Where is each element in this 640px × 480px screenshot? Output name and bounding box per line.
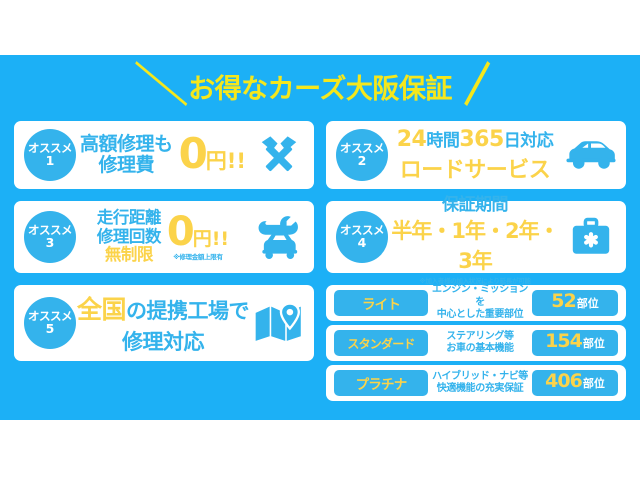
card-4-line1: 保証期間 <box>388 190 562 215</box>
crossed-hammers-icon <box>250 132 308 178</box>
plan-count-number: 406 <box>545 370 582 392</box>
feature-card-1: オススメ 1 高額修理も 修理費 0 円!! <box>14 121 314 189</box>
plan-row-standard[interactable]: スタンダード ステアリング等 お車の基本機能 154 部位 <box>326 325 626 361</box>
plan-desc-line1: ハイブリッド・ナビ等 <box>431 371 529 384</box>
badge-number: 2 <box>358 154 367 167</box>
card-2-body: 24時間365日対応 ロードサービス <box>388 121 562 189</box>
card-5-line2: 修理対応 <box>77 326 249 356</box>
plan-count-unit: 部位 <box>583 375 605 391</box>
badge-number: 4 <box>358 236 367 249</box>
card-3-line2: 修理回数 <box>97 228 161 246</box>
plan-desc-line2: 中心とした重要部位 <box>431 309 529 322</box>
plan-desc-line1: エンジン・ミッションを <box>431 284 529 309</box>
map-pin-icon <box>250 302 308 344</box>
feature-card-2: オススメ 2 24時間365日対応 ロードサービス <box>326 121 626 189</box>
card-2-text: 24時間365日対応 ロードサービス <box>397 126 554 184</box>
card-3-amount-unit: 円!! <box>193 224 229 251</box>
feature-card-3: オススメ 3 走行距離 修理回数 無制限 0 円!! ※修理金額上限有 <box>14 201 314 273</box>
plan-count-badge: 52 部位 <box>532 290 618 316</box>
car-side-icon <box>562 138 620 172</box>
card-3-line3: 無制限 <box>97 246 161 264</box>
plan-desc-line2: お車の基本機能 <box>431 343 529 356</box>
plan-count-badge: 154 部位 <box>532 330 618 356</box>
plan-desc-line1: ステアリング等 <box>431 331 529 344</box>
card-3-body: 走行距離 修理回数 無制限 0 円!! ※修理金額上限有 <box>76 201 250 273</box>
card-3-note: ※修理金額上限有 <box>173 251 222 261</box>
card-1-line1: 高額修理も <box>80 134 173 155</box>
recommend-badge-3: オススメ 3 <box>24 211 76 263</box>
card-5-partner: の提携工場で <box>126 299 249 323</box>
badge-number: 1 <box>46 154 55 167</box>
card-2-hours-unit: 時間 <box>426 131 459 151</box>
card-1-text: 高額修理も 修理費 <box>80 134 173 177</box>
card-3-line1: 走行距離 <box>97 209 161 227</box>
card-5-body: 全国の提携工場で 修理対応 <box>76 285 250 361</box>
badge-number: 3 <box>46 236 55 249</box>
plan-name-badge: スタンダード <box>334 330 428 356</box>
card-2-days: 365 <box>459 127 503 152</box>
plan-name-badge: ライト <box>334 290 428 316</box>
card-4-body: 保証期間 半年・1年・2年・3年 ※加入者様の加入状況により延長が可能 <box>388 201 562 273</box>
recommend-badge-5: オススメ 5 <box>24 297 76 349</box>
plan-row-light[interactable]: ライト エンジン・ミッションを 中心とした重要部位 52 部位 <box>326 285 626 321</box>
card-5-text: 全国の提携工場で 修理対応 <box>77 290 249 356</box>
card-1-amount-unit: 円!! <box>206 145 246 175</box>
poster-title: ＼ お得なカーズ大阪保証 ／ <box>0 62 640 110</box>
feature-card-4: オススメ 4 保証期間 半年・1年・2年・3年 ※加入者様の加入状況により延長が… <box>326 201 626 273</box>
card-1-body: 高額修理も 修理費 0 円!! <box>76 121 250 189</box>
card-3-price-group: 0 円!! ※修理金額上限有 <box>167 214 229 261</box>
wrench-car-icon <box>250 212 308 262</box>
card-4-text: 保証期間 半年・1年・2年・3年 ※加入者様の加入状況により延長が可能 <box>388 190 562 285</box>
page-title: お得なカーズ大阪保証 <box>188 67 452 106</box>
recommend-badge-2: オススメ 2 <box>336 129 388 181</box>
advertisement-poster: ＼ お得なカーズ大阪保証 ／ オススメ 1 高額修理も 修理費 0 円!! <box>0 0 640 480</box>
card-3-price: 0 円!! <box>167 214 229 251</box>
recommend-badge-1: オススメ 1 <box>24 129 76 181</box>
plan-count-number: 52 <box>551 290 575 312</box>
plan-name-badge: プラチナ <box>334 370 428 396</box>
card-2-line2: ロードサービス <box>397 152 554 184</box>
plan-count-unit: 部位 <box>583 335 605 351</box>
plan-description: エンジン・ミッションを 中心とした重要部位 <box>428 284 532 322</box>
badge-number: 5 <box>46 322 55 335</box>
card-3-amount: 0 <box>167 214 193 250</box>
card-2-line1: 24時間365日対応 <box>397 126 554 152</box>
plan-description: ステアリング等 お車の基本機能 <box>428 331 532 356</box>
card-2-days-unit: 日対応 <box>504 131 554 151</box>
plan-count-unit: 部位 <box>577 295 599 311</box>
card-3-text: 走行距離 修理回数 無制限 <box>97 209 161 264</box>
card-5-nationwide: 全国 <box>77 295 126 324</box>
title-slash-right-icon: ／ <box>450 63 505 109</box>
card-1-price: 0 円!! <box>179 135 246 175</box>
feature-card-5: オススメ 5 全国の提携工場で 修理対応 <box>14 285 314 361</box>
medical-toolbox-icon <box>562 216 620 258</box>
recommend-badge-4: オススメ 4 <box>336 211 388 263</box>
plan-description: ハイブリッド・ナビ等 快適機能の充実保証 <box>428 371 532 396</box>
plan-count-number: 154 <box>545 330 582 352</box>
card-1-line2: 修理費 <box>80 155 173 176</box>
card-4-line2: 半年・1年・2年・3年 <box>388 215 562 275</box>
title-slash-left-icon: ＼ <box>135 63 190 109</box>
plan-desc-line2: 快適機能の充実保証 <box>431 383 529 396</box>
card-5-line1: 全国の提携工場で <box>77 290 249 326</box>
card-2-hours: 24 <box>397 127 427 152</box>
card-1-amount: 0 <box>179 135 206 173</box>
card-4-note: ※加入者様の加入状況により延長が可能 <box>388 275 562 285</box>
plan-count-badge: 406 部位 <box>532 370 618 396</box>
plan-row-platinum[interactable]: プラチナ ハイブリッド・ナビ等 快適機能の充実保証 406 部位 <box>326 365 626 401</box>
